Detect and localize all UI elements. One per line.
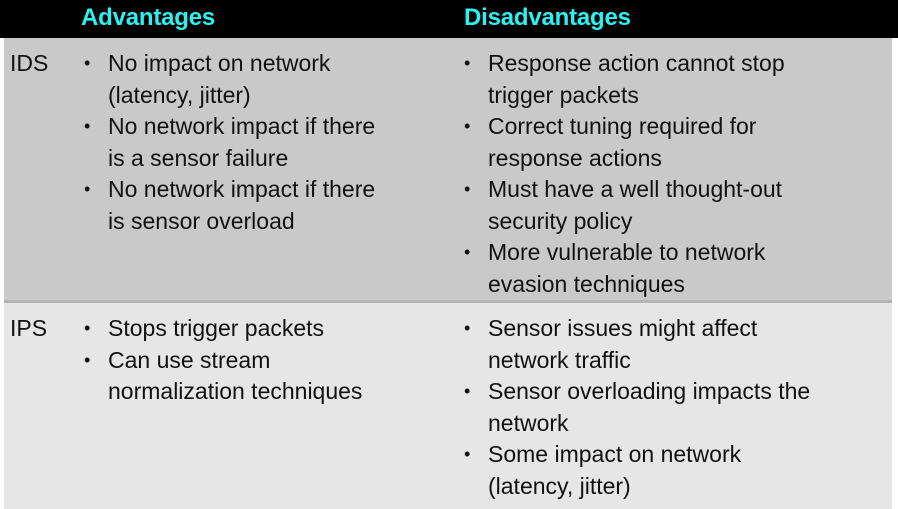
bullet-point-icon: • (84, 174, 90, 206)
bullet-item-line: security policy (488, 206, 891, 238)
bullet-item-line: Must have a well thought-out (488, 174, 891, 206)
bullet-item-text: Correct tuning required forresponse acti… (488, 111, 891, 174)
bullet-item: •Sensor issues might affectnetwork traff… (461, 313, 891, 376)
bullet-point-icon: • (464, 48, 470, 80)
bullet-item-line: (latency, jitter) (108, 80, 451, 112)
bullet-item-line: response actions (488, 143, 891, 175)
bullet-item-line: More vulnerable to network (488, 237, 891, 269)
bullet-item: •Correct tuning required forresponse act… (461, 111, 891, 174)
bullet-point-icon: • (464, 439, 470, 471)
row-label-ids: IDS (10, 50, 48, 77)
bullet-list-ips-advantages: •Stops trigger packets•Can use streamnor… (81, 313, 451, 408)
bullet-point-icon: • (464, 376, 470, 408)
bullet-item-text: Sensor overloading impacts thenetwork (488, 376, 891, 439)
bullet-item-line: network traffic (488, 345, 891, 377)
bullet-list-ips-disadvantages: •Sensor issues might affectnetwork traff… (461, 313, 891, 502)
bullet-item-line: network (488, 408, 891, 440)
table-row-ips: IPS •Stops trigger packets•Can use strea… (4, 303, 892, 509)
bullet-item-line: No network impact if there (108, 111, 451, 143)
bullet-point-icon: • (84, 345, 90, 377)
bullet-item-text: No network impact if thereis a sensor fa… (108, 111, 451, 174)
bullet-point-icon: • (464, 313, 470, 345)
bullet-item-text: Sensor issues might affectnetwork traffi… (488, 313, 891, 376)
column-header-disadvantages: Disadvantages (464, 0, 631, 38)
bullet-point-icon: • (84, 313, 90, 345)
bullet-item-text: Stops trigger packets (108, 313, 451, 345)
bullet-item: •Some impact on network(latency, jitter) (461, 439, 891, 502)
bullet-item: •No network impact if thereis a sensor f… (81, 111, 451, 174)
bullet-item-line: Response action cannot stop (488, 48, 891, 80)
bullet-item-line: Some impact on network (488, 439, 891, 471)
bullet-point-icon: • (84, 111, 90, 143)
bullet-list-ids-advantages: •No impact on network(latency, jitter)•N… (81, 48, 451, 237)
bullet-item-line: evasion techniques (488, 269, 891, 301)
bullet-point-icon: • (84, 48, 90, 80)
bullet-item-line: trigger packets (488, 80, 891, 112)
bullet-item-line: is sensor overload (108, 206, 451, 238)
column-header-advantages: Advantages (81, 0, 215, 38)
bullet-item: •No network impact if thereis sensor ove… (81, 174, 451, 237)
bullet-item-text: More vulnerable to networkevasion techni… (488, 237, 891, 300)
cell-ids-disadvantages: •Response action cannot stoptrigger pack… (461, 48, 891, 300)
cell-ips-advantages: •Stops trigger packets•Can use streamnor… (81, 313, 451, 408)
bullet-point-icon: • (464, 237, 470, 269)
bullet-item-line: Can use stream (108, 345, 451, 377)
bullet-item: •Sensor overloading impacts thenetwork (461, 376, 891, 439)
bullet-item: •No impact on network(latency, jitter) (81, 48, 451, 111)
cell-ids-advantages: •No impact on network(latency, jitter)•N… (81, 48, 451, 237)
bullet-item-line: is a sensor failure (108, 143, 451, 175)
bullet-item-line: Correct tuning required for (488, 111, 891, 143)
row-label-ips: IPS (10, 315, 47, 342)
bullet-item-line: Sensor overloading impacts the (488, 376, 891, 408)
bullet-point-icon: • (464, 111, 470, 143)
bullet-item-text: Some impact on network(latency, jitter) (488, 439, 891, 502)
table-header-row: Advantages Disadvantages (0, 0, 898, 38)
bullet-item-line: (latency, jitter) (488, 471, 891, 503)
bullet-item-text: Can use streamnormalization techniques (108, 345, 451, 408)
bullet-item: •Can use streamnormalization techniques (81, 345, 451, 408)
bullet-item-line: No network impact if there (108, 174, 451, 206)
ids-ips-comparison-table: Advantages Disadvantages IDS •No impact … (0, 0, 898, 509)
bullet-item-line: No impact on network (108, 48, 451, 80)
bullet-item: •More vulnerable to networkevasion techn… (461, 237, 891, 300)
bullet-item-line: Sensor issues might affect (488, 313, 891, 345)
bullet-item-text: Response action cannot stoptrigger packe… (488, 48, 891, 111)
bullet-point-icon: • (464, 174, 470, 206)
cell-ips-disadvantages: •Sensor issues might affectnetwork traff… (461, 313, 891, 502)
bullet-item-text: No network impact if thereis sensor over… (108, 174, 451, 237)
bullet-item-line: normalization techniques (108, 376, 451, 408)
bullet-item-text: No impact on network(latency, jitter) (108, 48, 451, 111)
bullet-item-line: Stops trigger packets (108, 313, 451, 345)
bullet-item: •Must have a well thought-outsecurity po… (461, 174, 891, 237)
table-row-ids: IDS •No impact on network(latency, jitte… (4, 38, 892, 300)
bullet-item-text: Must have a well thought-outsecurity pol… (488, 174, 891, 237)
bullet-list-ids-disadvantages: •Response action cannot stoptrigger pack… (461, 48, 891, 300)
bullet-item: •Response action cannot stoptrigger pack… (461, 48, 891, 111)
bullet-item: •Stops trigger packets (81, 313, 451, 345)
